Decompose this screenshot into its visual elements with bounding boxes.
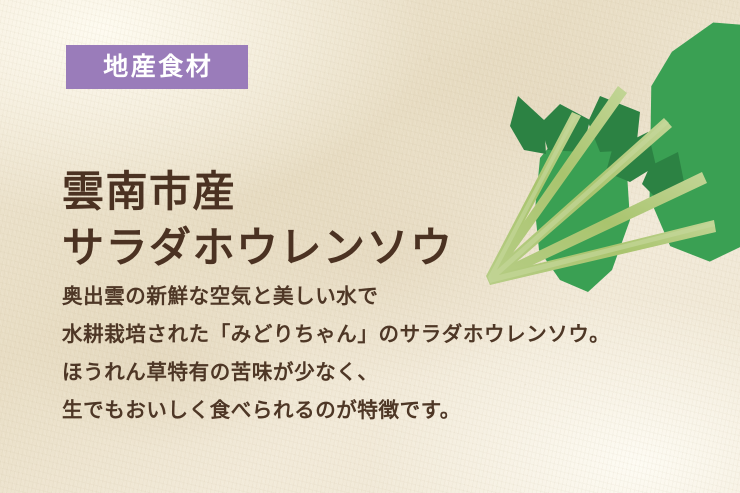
spinach-leaf-group [535,23,740,300]
category-badge-label: 地産食材 [101,55,214,80]
product-title: 雲南市産 サラダホウレンソウ [62,164,454,275]
spinach-stem-1 [486,112,581,285]
category-badge: 地産食材 [66,45,248,89]
spinach-stem-3 [489,118,672,285]
product-description-line-1: 奥出雲の新鮮な空気と美しい水で [62,278,610,316]
spinach-leaf-shadow-4 [588,96,640,152]
product-card: 地産食材 雲南市産 サラダホウレンソウ 奥出雲の新鮮な空気と美しい水で 水耕栽培… [0,0,740,493]
spinach-stem-highlight-3 [490,120,669,283]
spinach-leaf-1 [535,132,630,292]
spinach-leaf-shadow-3 [540,104,590,152]
spinach-stem-highlight-1 [488,114,577,283]
spinach-leaf-shadow-2 [510,96,546,154]
product-description-line-2: 水耕栽培された「みどりちゃん」のサラダホウレンソウ。 [62,316,610,354]
product-description-line-4: 生でもおいしく食べられるのが特徴です。 [62,392,610,430]
spinach-stem-highlight-group [488,114,715,283]
spinach-stem-5 [490,220,716,285]
spinach-stem-2 [487,86,627,285]
spinach-stem-4 [490,172,707,285]
spinach-leaf-shadow-6 [642,152,684,196]
spinach-leaf-2 [650,23,740,262]
spinach-illustration [440,0,740,300]
product-description: 奥出雲の新鮮な空気と美しい水で 水耕栽培された「みどりちゃん」のサラダホウレンソ… [62,278,610,430]
spinach-stem-highlight-5 [490,222,715,283]
spinach-leaf-shadow-group [510,96,684,196]
product-title-line-2: サラダホウレンソウ [62,220,454,275]
product-description-line-3: ほうれん草特有の苦味が少なく、 [62,354,610,392]
spinach-leaf-shadow-5 [606,132,656,182]
spinach-stem-group [486,86,716,285]
product-title-line-1: 雲南市産 [62,164,454,219]
